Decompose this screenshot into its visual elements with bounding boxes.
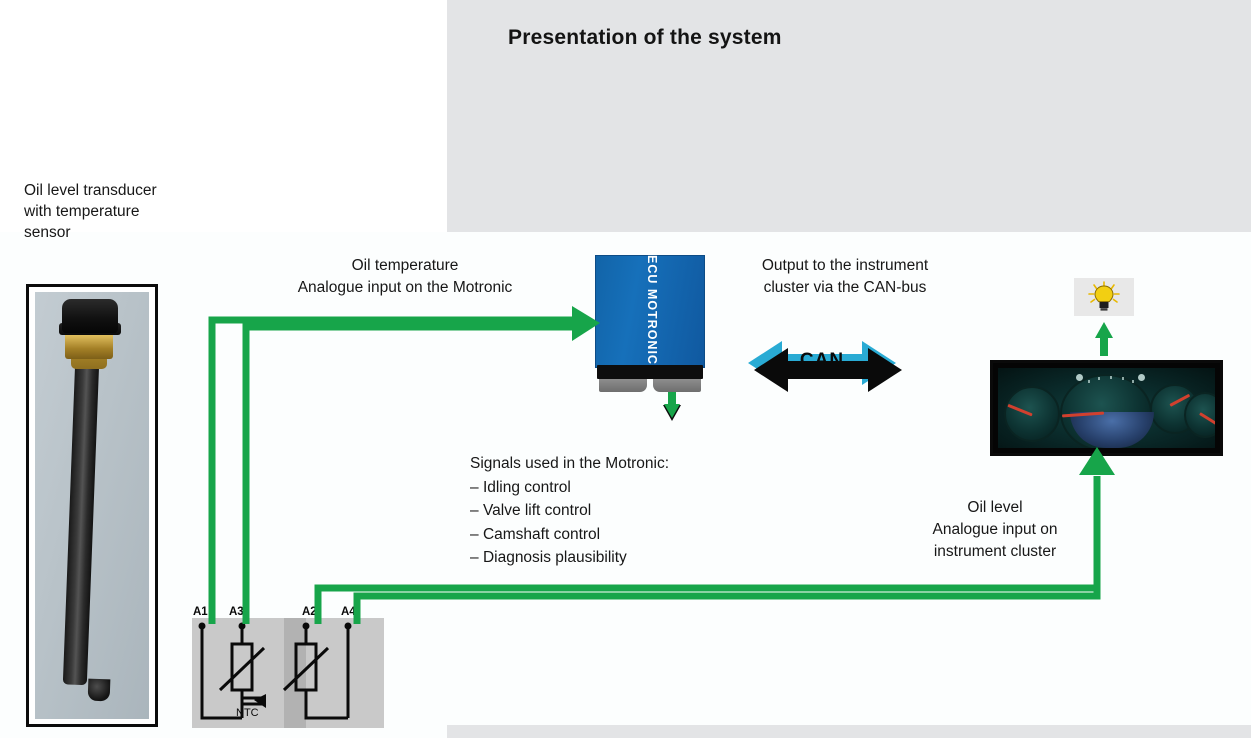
- ecu-label: ECU MOTRONIC: [595, 255, 708, 365]
- signal-item-camshaft: Camshaft control: [470, 523, 669, 547]
- sensor-terminal-block: NTC: [192, 618, 384, 728]
- wire-a2-to-cluster: [318, 588, 1097, 624]
- ntc-label: NTC: [236, 707, 259, 719]
- sensor-caption-line-3: sensor: [24, 222, 234, 243]
- instrument-cluster-photo: [990, 360, 1223, 456]
- signal-item-valve-lift: Valve lift control: [470, 499, 669, 523]
- pin-label-a4: A4: [341, 606, 356, 618]
- signal-item-idling: Idling control: [470, 476, 669, 500]
- signals-header: Signals used in the Motronic:: [470, 452, 669, 476]
- can-output-caption: Output to the instrument cluster via the…: [740, 255, 950, 299]
- light-bulb-icon: [1083, 281, 1125, 313]
- oil-level-line-3: instrument cluster: [905, 541, 1085, 563]
- ecu-motronic-module: ECU MOTRONIC: [595, 255, 705, 405]
- cluster-indicator-left: [1076, 374, 1083, 381]
- sensor-tube-tip: [88, 679, 111, 702]
- signals-items: Idling control Valve lift control Camsha…: [470, 476, 669, 570]
- ecu-connector-strip: [597, 365, 703, 379]
- oil-temperature-line-2: Analogue input on the Motronic: [265, 277, 545, 299]
- oil-level-transducer-photo: [26, 284, 158, 727]
- pin-label-a3: A3: [229, 606, 244, 618]
- ecu-connector-right: [653, 379, 701, 392]
- can-output-line-1: Output to the instrument: [740, 255, 950, 277]
- footer-grey-band: [447, 725, 1251, 738]
- lamp-glyph: [1074, 278, 1134, 316]
- pin-label-a2: A2: [302, 606, 317, 618]
- can-output-line-2: cluster via the CAN-bus: [740, 277, 950, 299]
- oil-level-line-2: Analogue input on: [905, 519, 1085, 541]
- sensor-caption-line-2: with temperature: [24, 201, 234, 222]
- sensor-cap: [62, 299, 118, 333]
- page-title: Presentation of the system: [508, 26, 782, 50]
- can-bus-arrow: CAN: [748, 337, 896, 389]
- sensor-caption: Oil level transducer with temperature se…: [24, 180, 234, 243]
- signals-list: Signals used in the Motronic: Idling con…: [470, 452, 669, 570]
- pin-label-a1: A1: [193, 606, 208, 618]
- diagram-canvas: Presentation of the system Oil level tra…: [0, 0, 1251, 738]
- can-bus-label: CAN: [748, 337, 896, 389]
- oil-warning-lamp-icon: [1074, 278, 1134, 316]
- cluster-face: [998, 368, 1215, 448]
- oil-temperature-caption: Oil temperature Analogue input on the Mo…: [265, 255, 545, 299]
- oil-temperature-line-1: Oil temperature: [265, 255, 545, 277]
- sensor-caption-line-1: Oil level transducer: [24, 180, 234, 201]
- lamp-up-arrow: [1095, 322, 1113, 356]
- signal-item-diagnosis: Diagnosis plausibility: [470, 546, 669, 570]
- cluster-indicator-right: [1138, 374, 1145, 381]
- oil-level-caption: Oil level Analogue input on instrument c…: [905, 497, 1085, 563]
- ecu-label-text: ECU MOTRONIC: [644, 255, 658, 365]
- ecu-connector-left: [599, 379, 647, 392]
- oil-level-line-1: Oil level: [905, 497, 1085, 519]
- sensor-schematic: NTC: [192, 618, 384, 728]
